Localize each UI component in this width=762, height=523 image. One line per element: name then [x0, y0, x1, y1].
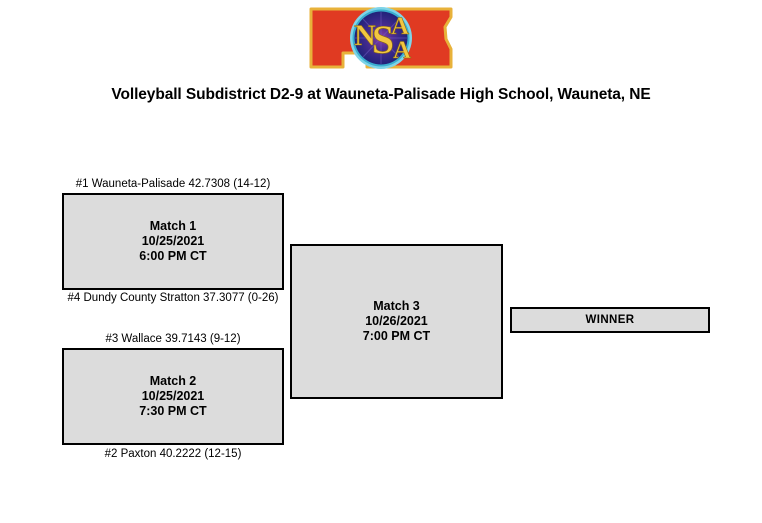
seed-label-3: #3 Wallace 39.7143 (9-12) — [62, 332, 284, 346]
match-3-name: Match 3 — [363, 299, 430, 314]
match-2-date: 10/25/2021 — [139, 389, 206, 404]
match-1-box[interactable]: Match 1 10/25/2021 6:00 PM CT — [62, 193, 284, 290]
match-3-box[interactable]: Match 3 10/26/2021 7:00 PM CT — [290, 244, 503, 399]
match-1-date: 10/25/2021 — [139, 234, 206, 249]
match-1-name: Match 1 — [139, 219, 206, 234]
seed-label-4: #4 Dundy County Stratton 37.3077 (0-26) — [62, 291, 284, 305]
match-1-time: 6:00 PM CT — [139, 249, 206, 264]
seed-label-1: #1 Wauneta-Palisade 42.7308 (14-12) — [62, 177, 284, 191]
match-2-box[interactable]: Match 2 10/25/2021 7:30 PM CT — [62, 348, 284, 445]
match-3-date: 10/26/2021 — [363, 314, 430, 329]
winner-box[interactable]: WINNER — [510, 307, 710, 333]
match-2-name: Match 2 — [139, 374, 206, 389]
tournament-bracket: #1 Wauneta-Palisade 42.7308 (14-12) Matc… — [0, 0, 762, 523]
match-3-text: Match 3 10/26/2021 7:00 PM CT — [363, 299, 430, 344]
seed-label-2: #2 Paxton 40.2222 (12-15) — [62, 447, 284, 461]
match-2-time: 7:30 PM CT — [139, 404, 206, 419]
match-1-text: Match 1 10/25/2021 6:00 PM CT — [139, 219, 206, 264]
match-2-text: Match 2 10/25/2021 7:30 PM CT — [139, 374, 206, 419]
match-3-time: 7:00 PM CT — [363, 329, 430, 344]
